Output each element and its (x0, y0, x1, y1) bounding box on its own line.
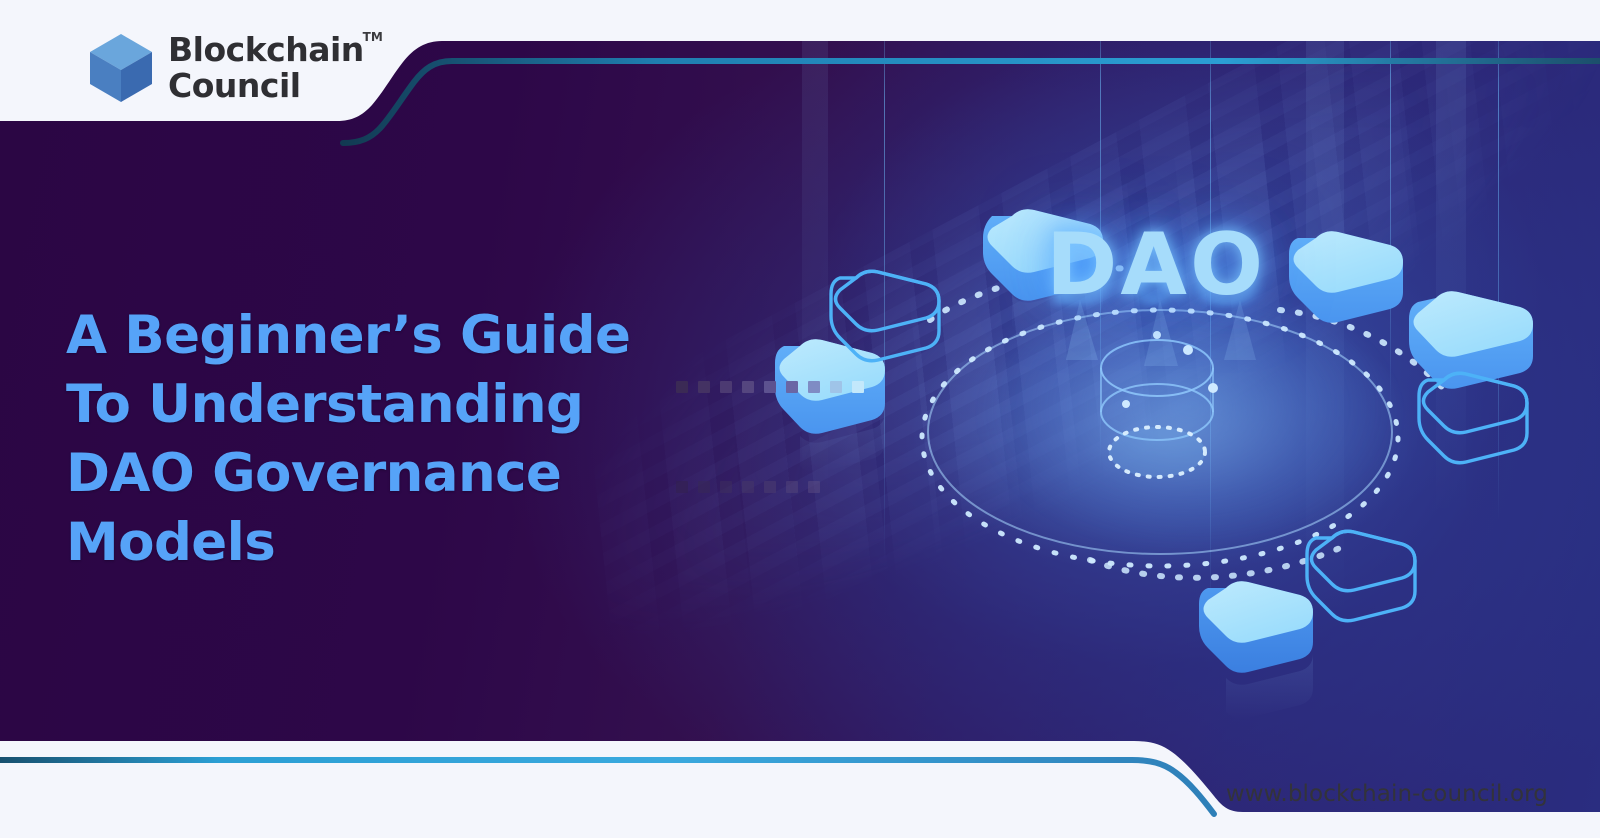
dao-wordmark-wrapper: DAO (1046, 222, 1266, 308)
trademark-symbol: TM (363, 30, 383, 44)
cylinder-base-dotted-ring (1109, 427, 1205, 477)
isometric-cube-outline (831, 271, 939, 361)
orbit-node (1122, 400, 1130, 408)
isometric-cube-outline (1419, 373, 1527, 463)
dotted-square-connector (676, 381, 864, 393)
bottom-accent-curve (0, 760, 1214, 814)
isometric-cube-solid (1199, 581, 1313, 673)
banner-canvas: DAO DAO Blockchain Council TM A Beginner… (0, 0, 1600, 838)
footer-website-url[interactable]: www.blockchain-council.org (1226, 781, 1548, 807)
page-title: A Beginner’s Guide To Understanding DAO … (66, 302, 630, 578)
dao-wordmark: DAO (1046, 222, 1266, 308)
brand-name-line1: Blockchain (168, 32, 364, 68)
isometric-cube-solid (1289, 231, 1403, 323)
orbit-node (1183, 345, 1193, 355)
brand-logo[interactable]: Blockchain Council TM (88, 32, 364, 104)
dotted-square-connector (676, 481, 820, 493)
isometric-cube-outline (1307, 531, 1415, 621)
orbit-node (1208, 383, 1218, 393)
isometric-cube-logo-icon (88, 32, 154, 104)
brand-wordmark: Blockchain Council TM (168, 32, 364, 103)
brand-name-line2: Council (168, 68, 364, 104)
